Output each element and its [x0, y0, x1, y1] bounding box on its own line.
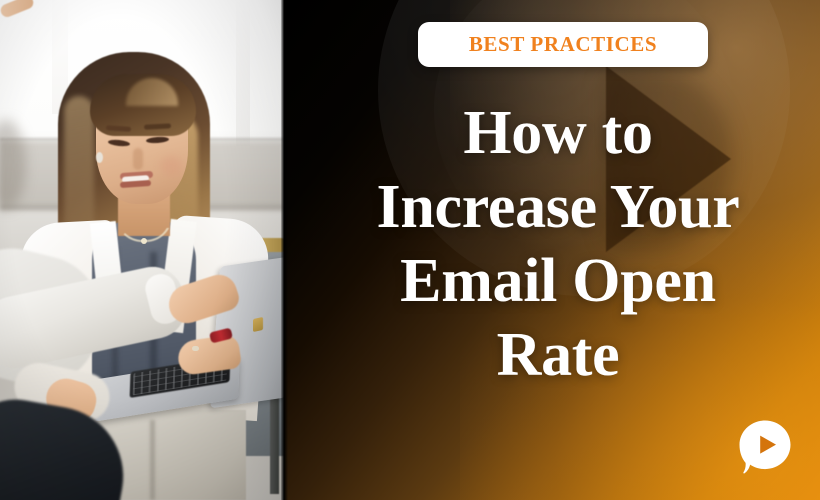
chat-play-button[interactable]	[736, 418, 794, 476]
page-title: How to Increase Your Email Open Rate	[330, 96, 786, 392]
chat-play-icon	[736, 418, 794, 476]
best-practices-badge[interactable]: BEST PRACTICES	[418, 22, 708, 67]
panel-edge-shade	[284, 0, 288, 500]
headline-line-4: Rate	[330, 318, 786, 392]
photo-vignette	[0, 0, 284, 500]
content-panel: BEST PRACTICES How to Increase Your Emai…	[284, 0, 820, 500]
headline-line-2: Increase Your	[330, 170, 786, 244]
headline-line-1: How to	[330, 96, 786, 170]
badge-label: BEST PRACTICES	[469, 32, 657, 57]
thumbnail-canvas: BEST PRACTICES How to Increase Your Emai…	[0, 0, 820, 500]
hero-photo	[0, 0, 284, 500]
headline-line-3: Email Open	[330, 244, 786, 318]
